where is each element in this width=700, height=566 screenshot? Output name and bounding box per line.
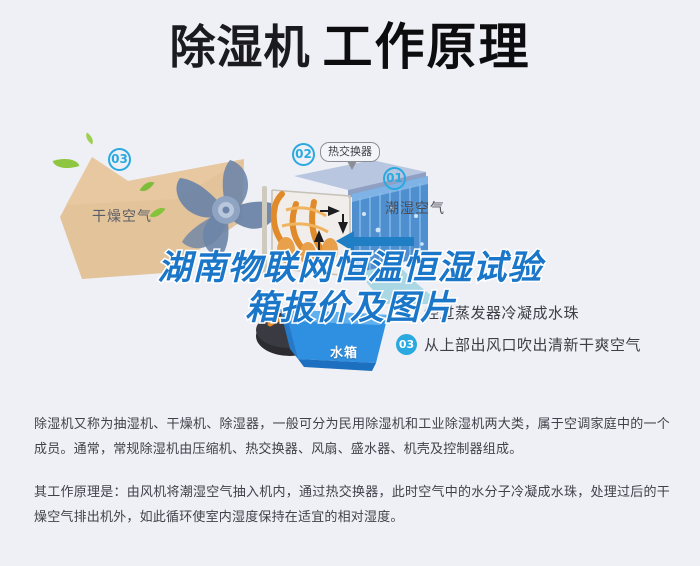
step-item-03: 03 从上部出风口吹出清新干爽空气 [396, 328, 696, 360]
body-paragraph-2: 其工作原理是：由风机将潮湿空气抽入机内，通过热交换器，此时空气中的水分子冷凝成水… [34, 480, 670, 531]
step-text-02: 经过蒸发器冷凝成水珠 [424, 302, 579, 323]
heat-exchanger-callout: 热交换器 [320, 142, 380, 162]
diagram-badge-humid-air: 01 [383, 167, 406, 190]
article-body: 除湿机又称为抽湿机、干燥机、除湿器，一般可分为民用除湿机和工业除湿机两大类，属于… [34, 412, 670, 530]
title-sub-text: 工作原理 [323, 22, 531, 72]
humid-air-label: 潮湿空气 [385, 198, 445, 218]
diagram-badge-dry-air: 03 [108, 148, 131, 171]
page-title: 除湿机工作原理 [0, 22, 700, 72]
page-root: 除湿机工作原理 [0, 0, 700, 566]
dry-air-label: 干燥空气 [92, 206, 152, 226]
step-badge-03: 03 [396, 334, 417, 355]
heat-exchanger-unit [252, 150, 432, 300]
step-list: 02 经过蒸发器冷凝成水珠 03 从上部出风口吹出清新干爽空气 [396, 296, 696, 360]
air-inflow-arrow-icon [336, 228, 414, 254]
water-tank-label: 水箱 [330, 342, 358, 361]
title-main-text: 除湿机 [170, 24, 311, 70]
water-tank [276, 305, 396, 375]
leaf-icon [83, 132, 96, 144]
step-text-03: 从上部出风口吹出清新干爽空气 [424, 334, 641, 355]
step-item-02: 02 经过蒸发器冷凝成水珠 [396, 296, 696, 328]
body-paragraph-1: 除湿机又称为抽湿机、干燥机、除湿器，一般可分为民用除湿机和工业除湿机两大类，属于… [34, 412, 670, 463]
diagram-badge-heat-exchanger: 02 [292, 143, 315, 166]
